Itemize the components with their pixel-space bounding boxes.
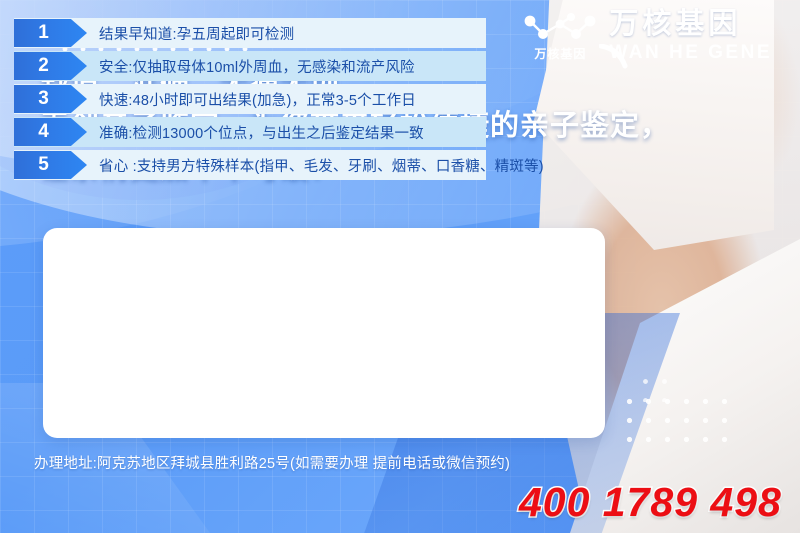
promo-poster: 万核基因 万核基因 WAN HE GENE 舒适、准确、无痛无创 无创亲子鉴定，… [0, 0, 800, 533]
feature-text: 安全:仅抽取母体10ml外周血，无感染和流产风险 [99, 56, 415, 77]
feature-row: 2 安全:仅抽取母体10ml外周血，无感染和流产风险 [14, 51, 584, 81]
logo-name-en: WAN HE GENE [609, 43, 772, 62]
feature-text: 快速:48小时即可出结果(加急)，正常3-5个工作日 [99, 89, 416, 110]
office-address: 办理地址:阿克苏地区拜城县胜利路25号(如需要办理 提前电话或微信预约) [34, 452, 510, 473]
feature-text: 准确:检测13000个位点，与出生之后鉴定结果一致 [99, 122, 424, 143]
logo-wordmark: 万核基因 WAN HE GENE [609, 10, 772, 62]
feature-row: 3 快速:48小时即可出结果(加急)，正常3-5个工作日 [14, 84, 584, 114]
feature-row: 1 结果早知道:孕五周起即可检测 [14, 18, 584, 48]
logo-name-cn: 万核基因 [609, 10, 741, 39]
hotline-phone-number[interactable]: 400 1789 498 [519, 479, 782, 526]
feature-row: 4 准确:检测13000个位点，与出生之后鉴定结果一致 [14, 117, 584, 147]
features-card [43, 228, 605, 438]
feature-text: 省心 :支持男方特殊样本(指甲、毛发、牙刷、烟蒂、口香糖、精斑等) [99, 155, 544, 176]
feature-row: 5 省心 :支持男方特殊样本(指甲、毛发、牙刷、烟蒂、口香糖、精斑等) [14, 150, 584, 180]
features-list: 1 结果早知道:孕五周起即可检测 2 安全:仅抽取母体10ml外周血，无感染和流… [14, 18, 584, 183]
feature-text: 结果早知道:孕五周起即可检测 [99, 23, 294, 44]
dot-grid-bottom-right [620, 392, 730, 452]
